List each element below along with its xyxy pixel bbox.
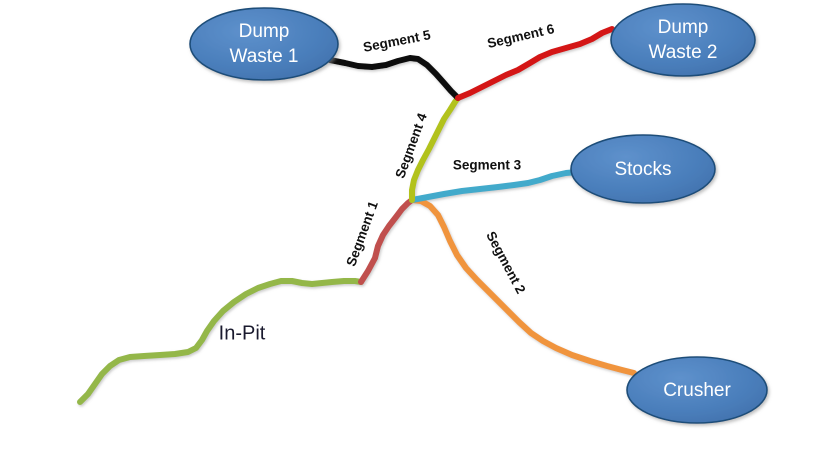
segment-5-line[interactable] [330, 58, 458, 98]
segment-3-line[interactable] [412, 172, 590, 200]
node-dump-waste-2[interactable] [611, 4, 755, 76]
segment-6-label: Segment 6 [486, 21, 556, 51]
crusher-label: Crusher [663, 380, 731, 401]
dump-waste-1-label-line1: Dump [239, 21, 290, 42]
in-pit-label: In-Pit [219, 322, 266, 344]
segment-2-label: Segment 2 [483, 229, 528, 296]
dump-waste-2-label-line1: Dump [658, 17, 709, 38]
segment-5-label: Segment 5 [362, 27, 432, 55]
dump-waste-2-label-line2: Waste 2 [649, 42, 718, 63]
node-dump-waste-1[interactable] [190, 8, 338, 80]
dump-waste-1-ellipse[interactable] [190, 8, 338, 80]
haul-route-diagram: Dump Waste 1 Dump Waste 2 Stocks Crusher… [0, 0, 817, 469]
segment-3-label: Segment 3 [453, 158, 522, 173]
route-lines-group [80, 29, 634, 402]
dump-waste-2-ellipse[interactable] [611, 4, 755, 76]
dump-waste-1-label-line2: Waste 1 [230, 46, 299, 67]
diagram-canvas: Dump Waste 1 Dump Waste 2 Stocks Crusher… [0, 0, 817, 469]
stocks-label: Stocks [614, 159, 671, 180]
area-labels-group: In-Pit [219, 322, 266, 344]
segment-4-label: Segment 4 [392, 111, 430, 181]
